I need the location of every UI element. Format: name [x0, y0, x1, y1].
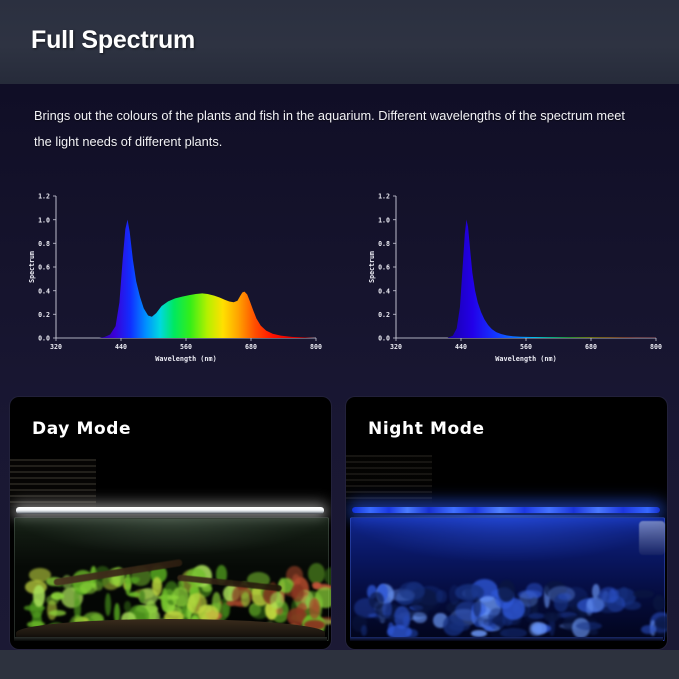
- page-title: Full Spectrum: [31, 26, 195, 55]
- svg-text:680: 680: [245, 343, 257, 351]
- panel-label-day: Day Mode: [32, 419, 131, 439]
- chart-axes: [393, 196, 656, 341]
- svg-text:0.4: 0.4: [378, 287, 390, 295]
- svg-text:Spectrum: Spectrum: [28, 251, 36, 283]
- intro-paragraph: Brings out the colours of the plants and…: [34, 103, 634, 155]
- svg-text:0.4: 0.4: [38, 287, 50, 295]
- tank-base: [14, 637, 327, 641]
- svg-text:560: 560: [520, 343, 532, 351]
- svg-text:800: 800: [310, 343, 322, 351]
- chart-full-spectrum: 0.00.20.40.60.81.01.2320440560680800 Wav…: [22, 186, 322, 370]
- chart-tick-labels: 0.00.20.40.60.81.01.2320440560680800: [378, 193, 662, 351]
- svg-text:320: 320: [390, 343, 402, 351]
- svg-text:0.0: 0.0: [378, 335, 390, 343]
- svg-text:1.0: 1.0: [378, 216, 390, 224]
- svg-text:1.0: 1.0: [38, 216, 50, 224]
- svg-text:Wavelength (nm): Wavelength (nm): [495, 355, 556, 363]
- svg-text:0.8: 0.8: [378, 240, 390, 248]
- svg-text:0.6: 0.6: [38, 264, 50, 272]
- chart-canvas-blue-night: 0.00.20.40.60.81.01.2320440560680800 Wav…: [362, 186, 662, 370]
- chart-plot-background: [22, 186, 322, 370]
- tank-side-equipment: [639, 521, 665, 555]
- svg-text:320: 320: [50, 343, 62, 351]
- window-blinds: [10, 459, 96, 507]
- svg-text:680: 680: [585, 343, 597, 351]
- window-blinds: [346, 455, 432, 503]
- svg-text:440: 440: [115, 343, 127, 351]
- svg-text:1.2: 1.2: [378, 193, 390, 201]
- svg-text:Spectrum: Spectrum: [368, 251, 376, 283]
- svg-text:800: 800: [650, 343, 662, 351]
- svg-text:0.2: 0.2: [38, 311, 50, 319]
- chart-canvas-full-spectrum: 0.00.20.40.60.81.01.2320440560680800 Wav…: [22, 186, 322, 370]
- tank-base: [350, 637, 663, 641]
- svg-text:1.2: 1.2: [38, 193, 50, 201]
- rockscape-silhouettes: [352, 567, 661, 639]
- svg-text:560: 560: [180, 343, 192, 351]
- svg-text:Wavelength (nm): Wavelength (nm): [155, 355, 216, 363]
- svg-text:0.8: 0.8: [38, 240, 50, 248]
- panel-label-night: Night Mode: [368, 419, 485, 439]
- svg-text:0.0: 0.0: [38, 335, 50, 343]
- chart-blue-night: 0.00.20.40.60.81.01.2320440560680800 Wav…: [362, 186, 662, 370]
- chart-series-area: [99, 220, 316, 338]
- product-feature-page: Full Spectrum Brings out the colours of …: [0, 0, 679, 679]
- chart-plot-background: [362, 186, 662, 370]
- led-light-bar-white: [16, 507, 324, 514]
- svg-text:440: 440: [455, 343, 467, 351]
- led-light-bar-blue: [352, 507, 660, 513]
- header-band: Full Spectrum: [0, 0, 679, 84]
- panel-day-mode: Day Mode: [10, 397, 331, 649]
- chart-series-area: [447, 220, 656, 338]
- svg-text:0.6: 0.6: [378, 264, 390, 272]
- svg-text:0.2: 0.2: [378, 311, 390, 319]
- panel-night-mode: Night Mode: [346, 397, 667, 649]
